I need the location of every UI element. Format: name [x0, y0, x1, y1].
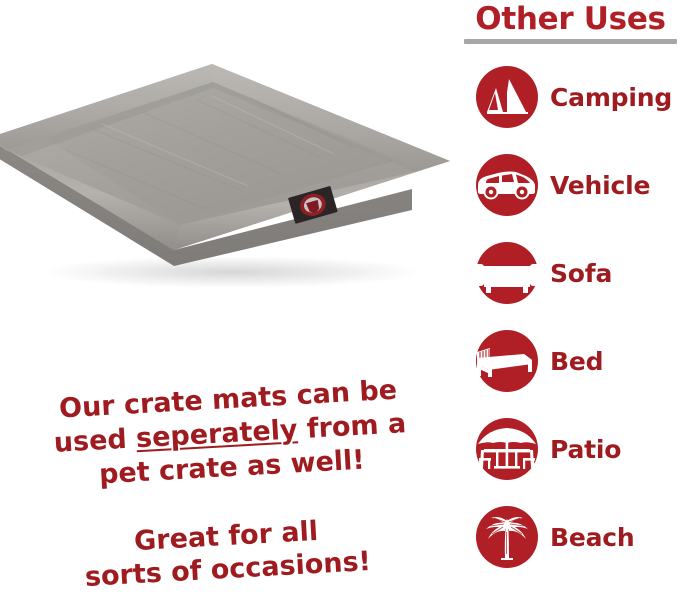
use-label-patio: Patio: [550, 435, 621, 464]
use-item-beach: Beach: [462, 493, 679, 581]
car-icon: [476, 154, 538, 216]
other-uses-list: Camping: [462, 53, 679, 581]
crate-mat-image: [0, 58, 452, 308]
sofa-badge: [476, 242, 538, 304]
sofa-icon: [476, 242, 538, 304]
marketing-copy-occasions: Great for all sorts of occasions!: [60, 511, 393, 593]
use-item-sofa: Sofa: [462, 229, 679, 317]
vehicle-badge: [476, 154, 538, 216]
use-label-camping: Camping: [550, 83, 672, 112]
other-uses-title: Other Uses: [462, 2, 679, 36]
bed-icon: [476, 330, 538, 392]
use-label-beach: Beach: [550, 523, 635, 552]
patio-badge: [476, 418, 538, 480]
tent-icon: [476, 66, 538, 128]
use-item-bed: Bed: [462, 317, 679, 405]
bed-badge: [476, 330, 538, 392]
copy-a-line2-pre: used: [53, 423, 137, 459]
palm-tree-icon: [476, 506, 538, 568]
marketing-copy-separate: Our crate mats can be used seperately fr…: [25, 372, 434, 496]
umbrella-table-icon: [476, 418, 538, 480]
use-item-patio: Patio: [462, 405, 679, 493]
use-label-vehicle: Vehicle: [550, 171, 650, 200]
use-item-vehicle: Vehicle: [462, 141, 679, 229]
crate-mat-illustration: [0, 58, 452, 308]
beach-badge: [476, 506, 538, 568]
infographic-canvas: Our crate mats can be used seperately fr…: [0, 0, 679, 593]
use-label-sofa: Sofa: [550, 259, 612, 288]
copy-a-line2-post: from a: [297, 408, 407, 445]
use-label-bed: Bed: [550, 347, 603, 376]
title-underline-rule: [464, 39, 677, 44]
use-item-camping: Camping: [462, 53, 679, 141]
product-image-panel: [0, 0, 452, 360]
other-uses-panel: Other Uses Camping: [462, 0, 679, 593]
camping-badge: [476, 66, 538, 128]
mat-shadow: [42, 256, 422, 288]
